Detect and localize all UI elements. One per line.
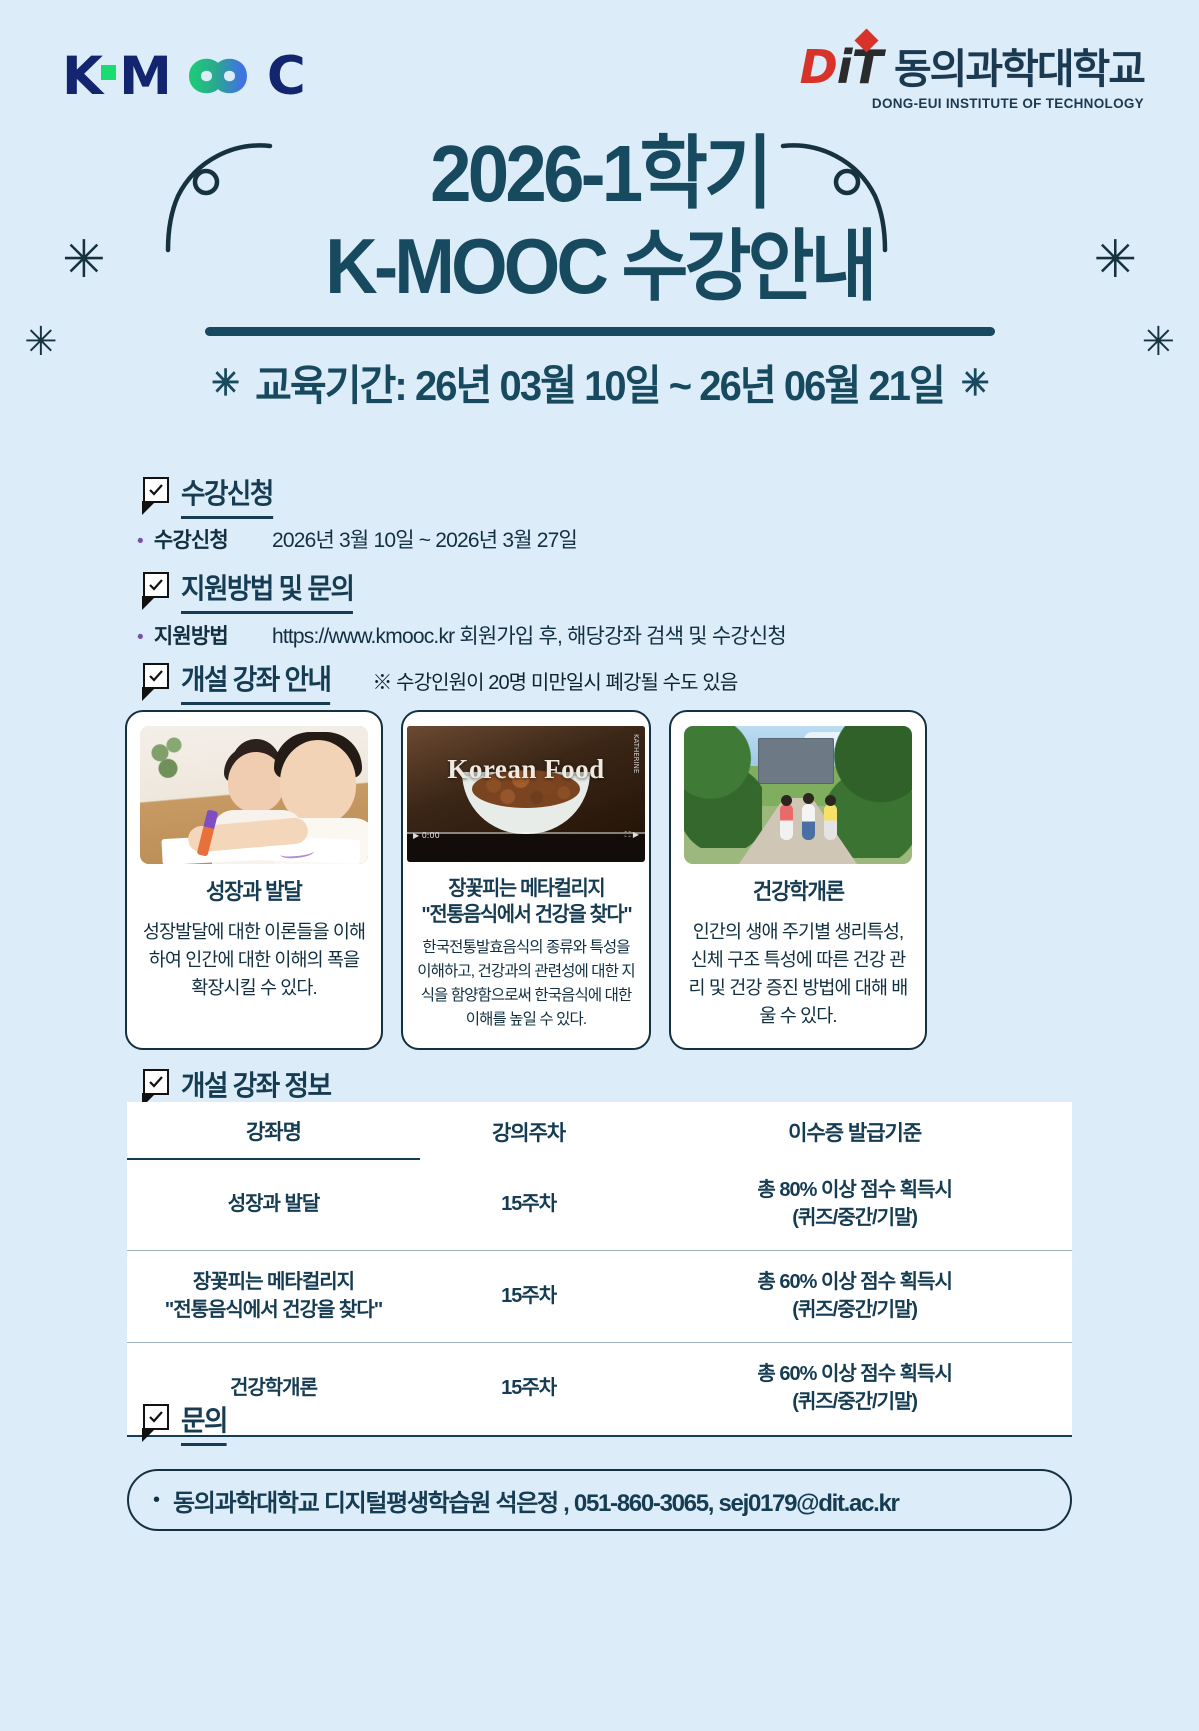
children-drawing-photo (140, 726, 368, 864)
course-card-desc: 한국전통발효음식의 종류와 특성을 이해하고, 건강과의 관련성에 대한 지식을… (416, 936, 636, 1032)
table-row: 성장과 발달 15주차 총 80% 이상 점수 획득시 (퀴즈/중간/기말) (127, 1159, 1072, 1251)
section-header-method: 지원방법 및 문의 (143, 567, 362, 614)
criteria-line1: 총 60% 이상 점수 획득시 (643, 1361, 1066, 1389)
dit-english-name: DONG-EUI INSTITUTE OF TECHNOLOGY (800, 96, 1144, 111)
bullet-value-apply: 2026년 3월 10일 ~ 2026년 3월 27일 (272, 524, 577, 554)
sparkle-icon: ✳ (961, 362, 988, 404)
section-title-contact: 문의 (181, 1399, 227, 1446)
checkbox-bubble-icon (143, 663, 169, 689)
dit-korean-name: 동의과학대학교 (894, 49, 1144, 90)
dit-letter-d: D (800, 40, 837, 94)
kmooc-infinity-icon (170, 49, 266, 103)
section-title-method: 지원방법 및 문의 (181, 567, 353, 614)
course-card-list: 성장과 발달 성장발달에 대한 이론들을 이해하여 인간에 대한 이해의 폭을 … (125, 710, 1075, 1050)
cell-course-name: 장꽃피는 메타컬리지 "전통음식에서 건강을 찾다" (127, 1251, 420, 1343)
table-bottom-rule (127, 1435, 1072, 1437)
section-title-courses: 개설 강좌 안내 (181, 658, 330, 705)
table-header-row: 강좌명 강의주차 이수증 발급기준 (127, 1102, 1072, 1159)
poster-root: K M C Di (0, 0, 1199, 1731)
section-header-apply: 수강신청 (143, 472, 278, 519)
cell-criteria: 총 60% 이상 점수 획득시 (퀴즈/중간/기말) (637, 1343, 1072, 1435)
section-header-courses: 개설 강좌 안내 ※ 수강인원이 20명 미만일시 폐강될 수도 있음 (143, 658, 737, 705)
course-card-desc: 인간의 생애 주기별 생리특성, 신체 구조 특성에 따른 건강 관리 및 건강… (684, 918, 912, 1030)
title-block: 2026-1학기 K-MOOC 수강안내 ✳ 교육기간: 26년 03월 10일… (0, 132, 1199, 413)
section-header-contact: 문의 (143, 1399, 229, 1446)
kmooc-logo-c: C (267, 50, 303, 103)
contact-pill: • 동의과학대학교 디지털평생학습원 석은정 , 051-860-3065, s… (127, 1469, 1072, 1531)
course-card-title-line2: "전통음식에서 건강을 찾다" (421, 902, 631, 928)
section-note-courses: ※ 수강인원이 20명 미만일시 폐강될 수도 있음 (372, 666, 737, 695)
table-row: 장꽃피는 메타컬리지 "전통음식에서 건강을 찾다" 15주차 총 60% 이상… (127, 1251, 1072, 1343)
bullet-label-method: 지원방법 (154, 620, 228, 650)
course-card-title-line1: 장꽃피는 메타컬리지 (421, 876, 631, 902)
course-card[interactable]: 건강학개론 인간의 생애 주기별 생리특성, 신체 구조 특성에 따른 건강 관… (669, 710, 927, 1050)
section-title-apply: 수강신청 (181, 472, 273, 519)
bullet-dot-icon: • (137, 532, 143, 551)
bullet-label-apply: 수강신청 (154, 524, 228, 554)
cell-criteria: 총 60% 이상 점수 획득시 (퀴즈/중간/기말) (637, 1251, 1072, 1343)
bullet-method: • 지원방법 https://www.kmooc.kr 회원가입 후, 해당강좌… (137, 620, 786, 650)
criteria-line2: (퀴즈/중간/기말) (643, 1297, 1066, 1325)
kmooc-logo: K M C (62, 46, 303, 106)
course-card-title: 성장과 발달 (206, 878, 302, 906)
bullet-dot-icon: • (137, 628, 143, 647)
page-title-line2: K-MOOC 수강안내 (42, 225, 1157, 308)
checkbox-bubble-icon (143, 1404, 169, 1430)
course-card-title: 장꽃피는 메타컬리지 "전통음식에서 건강을 찾다" (421, 876, 631, 927)
criteria-line1: 총 80% 이상 점수 획득시 (643, 1177, 1066, 1205)
checkbox-bubble-icon (143, 1069, 169, 1095)
table-header-course-name: 강좌명 (127, 1102, 420, 1159)
cell-course-name: 성장과 발달 (127, 1159, 420, 1251)
course-card-desc: 성장발달에 대한 이론들을 이해하여 인간에 대한 이해의 폭을 확장시킬 수 … (140, 918, 368, 1002)
period-banner: ✳ 교육기간: 26년 03월 10일 ~ 26년 06월 21일 ✳ (30, 352, 1169, 413)
course-info-table: 강좌명 강의주차 이수증 발급기준 성장과 발달 15주차 총 80% 이상 점… (127, 1102, 1072, 1437)
kmooc-logo-dot-icon (101, 65, 116, 80)
course-name-line2: "전통음식에서 건강을 찾다" (133, 1297, 414, 1325)
course-card[interactable]: Korean Food ▶ 0:00 ⛶ ▶ KATHERINE 장꽃피는 메타… (401, 710, 651, 1050)
title-divider (205, 327, 995, 336)
dit-wordmark: DiT (800, 44, 882, 90)
logo-bar: K M C Di (0, 0, 1199, 130)
cell-weeks: 15주차 (420, 1343, 637, 1435)
bullet-dot-icon: • (153, 1490, 160, 1510)
bullet-value-method: https://www.kmooc.kr 회원가입 후, 해당강좌 검색 및 수… (272, 620, 786, 650)
table-row: 건강학개론 15주차 총 60% 이상 점수 획득시 (퀴즈/중간/기말) (127, 1343, 1072, 1435)
cell-weeks: 15주차 (420, 1251, 637, 1343)
course-card-title: 건강학개론 (753, 878, 844, 906)
korean-food-video-thumbnail: Korean Food ▶ 0:00 ⛶ ▶ KATHERINE (407, 726, 645, 862)
kmooc-logo-m: M (119, 50, 169, 103)
table-header-weeks: 강의주차 (420, 1102, 637, 1159)
criteria-line1: 총 60% 이상 점수 획득시 (643, 1269, 1066, 1297)
table-header-criteria: 이수증 발급기준 (637, 1102, 1072, 1159)
criteria-line2: (퀴즈/중간/기말) (643, 1389, 1066, 1417)
people-walking-park-photo (684, 726, 912, 864)
period-text: 교육기간: 26년 03월 10일 ~ 26년 06월 21일 (255, 352, 944, 413)
dit-logo: DiT 동의과학대학교 DONG-EUI INSTITUTE OF TECHNO… (800, 44, 1144, 111)
checkbox-bubble-icon (143, 572, 169, 598)
contact-text: 동의과학대학교 디지털평생학습원 석은정 , 051-860-3065, sej… (173, 1483, 899, 1518)
watermark-text: KATHERINE (632, 734, 640, 773)
thumbnail-caption: Korean Food (407, 754, 645, 785)
video-controls-icon: ⛶ ▶ (625, 830, 639, 840)
cell-weeks: 15주차 (420, 1159, 637, 1251)
course-name-line1: 장꽃피는 메타컬리지 (133, 1269, 414, 1297)
cell-criteria: 총 80% 이상 점수 획득시 (퀴즈/중간/기말) (637, 1159, 1072, 1251)
dit-letter-it: iT (837, 40, 882, 94)
video-timecode: ▶ 0:00 (413, 831, 440, 840)
kmooc-logo-k: K (62, 50, 100, 103)
course-card[interactable]: 성장과 발달 성장발달에 대한 이론들을 이해하여 인간에 대한 이해의 폭을 … (125, 710, 383, 1050)
bullet-apply: • 수강신청 2026년 3월 10일 ~ 2026년 3월 27일 (137, 524, 577, 554)
page-title-line1: 2026-1학기 (42, 132, 1157, 217)
criteria-line2: (퀴즈/중간/기말) (643, 1205, 1066, 1233)
sparkle-icon: ✳ (211, 362, 238, 404)
checkbox-bubble-icon (143, 477, 169, 503)
